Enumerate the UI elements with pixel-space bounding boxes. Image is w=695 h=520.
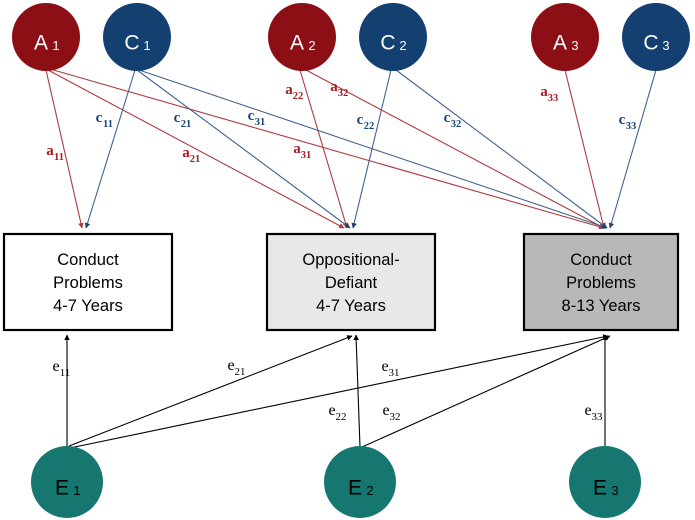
coefficient-label-c11: c <box>96 110 103 126</box>
coefficient-subscript-a21: 21 <box>190 154 201 165</box>
coefficient-subscript-e32: 32 <box>390 411 401 423</box>
coefficient-subscript-a11: 11 <box>54 152 64 163</box>
coefficient-subscript-a31: 31 <box>301 150 312 161</box>
coefficient-label-c31: c <box>248 108 255 124</box>
coefficient-subscript-a22: 22 <box>293 91 304 102</box>
coefficient-subscript-c33: 33 <box>626 121 637 132</box>
coefficient-subscript-e22: 22 <box>336 411 347 423</box>
coefficient-label-e22: e <box>328 402 335 419</box>
coefficient-label-e11: e <box>52 358 59 375</box>
coefficient-subscript-c21: 21 <box>181 119 192 130</box>
coefficient-subscript-e33: 33 <box>592 411 604 423</box>
coefficient-subscript-c32: 32 <box>451 119 462 130</box>
coefficient-label-e33: e <box>584 402 591 419</box>
coefficient-subscript-c31: 31 <box>255 117 266 128</box>
coefficient-subscript-e31: 31 <box>389 367 400 379</box>
coefficient-label-e21: e <box>227 357 234 374</box>
path-diagram-canvas: ConductProblems4-7 YearsOppositional-Def… <box>0 0 695 520</box>
path-coefficient-labels: a11a21a31a22a32a33 c11c21c31c22c32c33 e1… <box>0 0 695 520</box>
coefficient-subscript-a33: 33 <box>548 93 559 104</box>
coefficient-subscript-a32: 32 <box>338 88 349 99</box>
coefficient-subscript-e21: 21 <box>235 366 246 378</box>
coefficient-label-c22: c <box>357 112 364 128</box>
coefficient-label-c21: c <box>174 110 181 126</box>
coefficient-label-c33: c <box>619 112 626 128</box>
coefficient-subscript-e11: 11 <box>60 367 71 379</box>
coefficient-subscript-c22: 22 <box>364 121 375 132</box>
coefficient-label-e32: e <box>382 402 389 419</box>
coefficient-label-e31: e <box>381 358 388 375</box>
coefficient-subscript-c11: 11 <box>103 119 113 130</box>
coefficient-label-c32: c <box>444 110 451 126</box>
